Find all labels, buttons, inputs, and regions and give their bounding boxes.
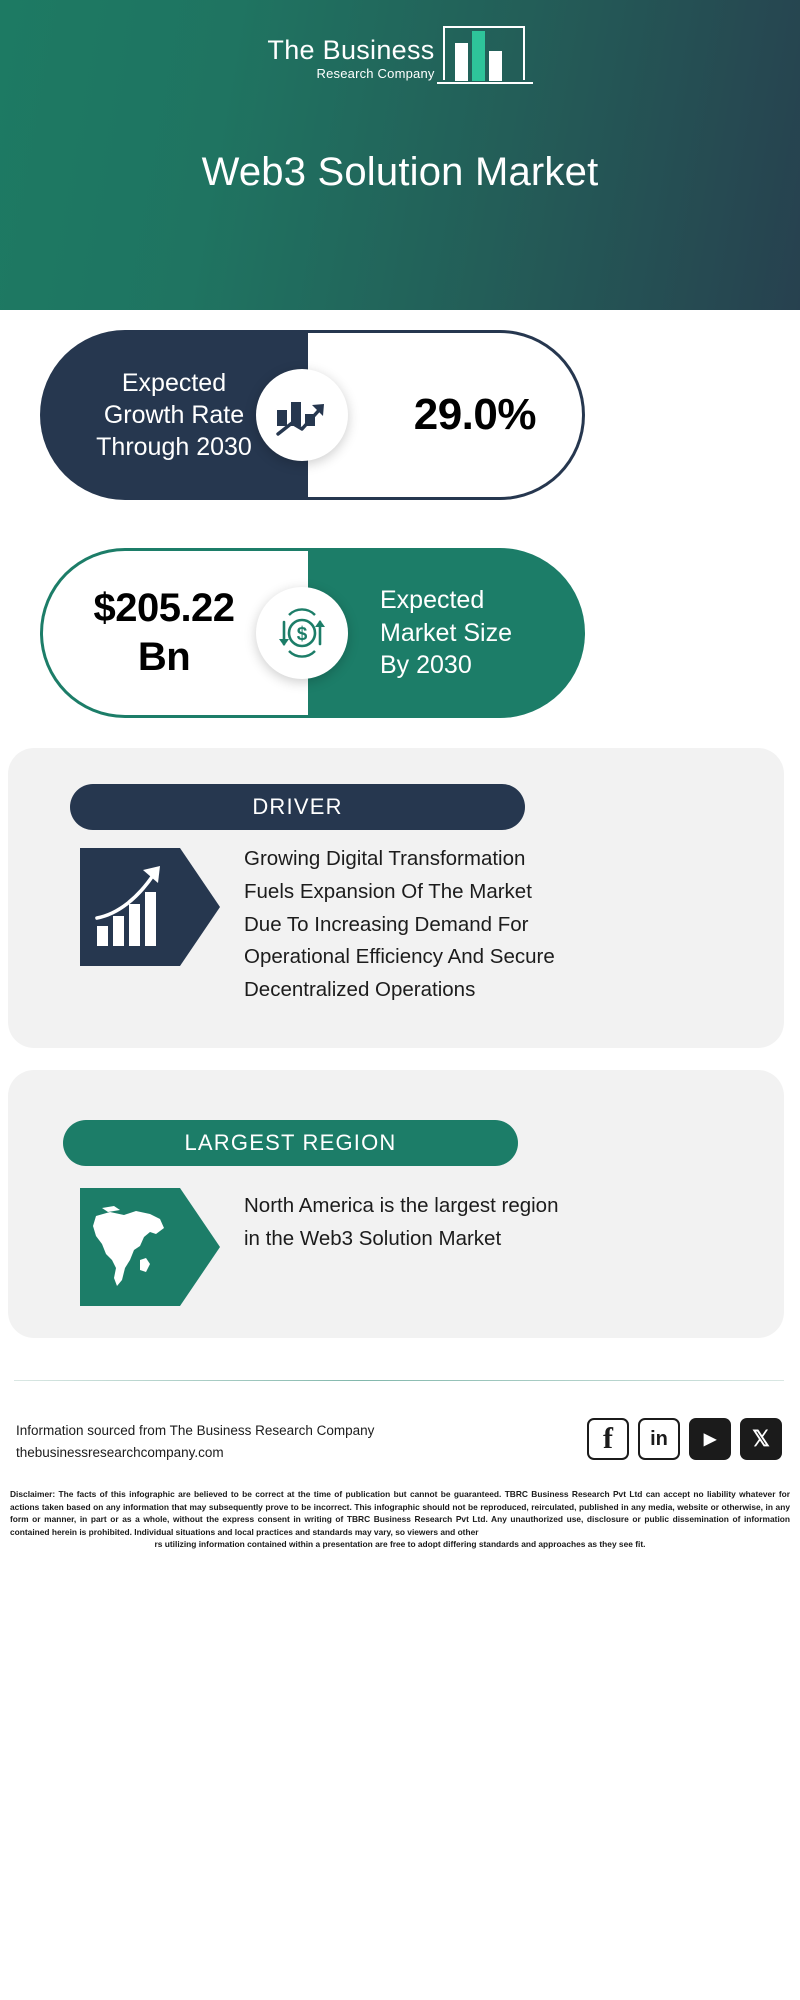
- bar-chart-logo-mark-icon: [437, 22, 533, 84]
- stat-growth-label: Expected Growth Rate Through 2030: [96, 367, 252, 463]
- brand-logo: The Business Research Company: [0, 22, 800, 84]
- disclaimer-text: Disclaimer: The facts of this infographi…: [10, 1488, 790, 1551]
- stat-growth-value-block: 29.0%: [308, 330, 585, 500]
- stat-card-growth-rate: Expected Growth Rate Through 2030 29.0%: [40, 330, 585, 500]
- driver-pill-label: DRIVER: [252, 794, 342, 820]
- brand-logo-text: The Business Research Company: [267, 37, 434, 84]
- disclaimer-last-line: rs utilizing information contained withi…: [10, 1538, 790, 1551]
- brand-logo-line2: Research Company: [267, 67, 434, 80]
- dollar-circular-arrows-icon: $: [256, 587, 348, 679]
- linkedin-glyph: in: [650, 1428, 668, 1451]
- largest-region-pill: LARGEST REGION: [63, 1120, 518, 1166]
- driver-icon-tip: [180, 848, 220, 966]
- stat-card-market-size: $205.22 Bn Expected Market Size By 2030 …: [40, 548, 585, 718]
- disclaimer-main: Disclaimer: The facts of this infographi…: [10, 1489, 790, 1537]
- bar-chart-growth-arrow-icon: [80, 848, 220, 966]
- page-title: Web3 Solution Market: [0, 150, 800, 195]
- largest-region-body-text: North America is the largest region in t…: [244, 1190, 570, 1256]
- logo-bar-1: [455, 43, 468, 81]
- youtube-glyph: ▶: [704, 1429, 716, 1449]
- brand-logo-line1: The Business: [267, 37, 434, 64]
- largest-region-pill-label: LARGEST REGION: [185, 1130, 397, 1156]
- infographic-page: The Business Research Company Web3 Solut…: [0, 0, 800, 2000]
- svg-text:$: $: [297, 624, 308, 645]
- youtube-icon[interactable]: ▶: [689, 1418, 731, 1460]
- driver-panel: DRIVER Growing Digital Transformation Fu…: [8, 748, 784, 1048]
- growth-chart-arrow-icon: [256, 369, 348, 461]
- footer-source-info: Information sourced from The Business Re…: [16, 1420, 374, 1465]
- footer-source-line: Information sourced from The Business Re…: [16, 1420, 374, 1442]
- logo-baseline: [437, 82, 533, 85]
- region-icon-tip: [180, 1188, 220, 1306]
- driver-icon-body: [80, 848, 180, 966]
- footer-divider: [14, 1380, 784, 1381]
- driver-pill: DRIVER: [70, 784, 525, 830]
- region-icon-body: [80, 1188, 180, 1306]
- logo-bar-3: [489, 51, 502, 81]
- stat-market-value: $205.22 Bn: [69, 584, 259, 682]
- stat-market-label: Expected Market Size By 2030: [380, 584, 512, 682]
- facebook-icon[interactable]: f: [587, 1418, 629, 1460]
- x-twitter-glyph: 𝕏: [752, 1426, 770, 1452]
- driver-body-text: Growing Digital Transformation Fuels Exp…: [244, 843, 574, 1007]
- footer-website[interactable]: thebusinessresearchcompany.com: [16, 1442, 374, 1464]
- x-twitter-icon[interactable]: 𝕏: [740, 1418, 782, 1460]
- north-america-map-icon: [80, 1188, 220, 1306]
- stat-growth-value: 29.0%: [414, 390, 536, 440]
- stat-market-label-block: Expected Market Size By 2030: [308, 548, 585, 718]
- logo-bar-2: [472, 31, 485, 81]
- header-banner: The Business Research Company Web3 Solut…: [0, 0, 800, 310]
- facebook-glyph: f: [603, 1422, 613, 1456]
- largest-region-panel: LARGEST REGION North America is the larg…: [8, 1070, 784, 1338]
- linkedin-icon[interactable]: in: [638, 1418, 680, 1460]
- social-links: f in ▶ 𝕏: [587, 1418, 782, 1460]
